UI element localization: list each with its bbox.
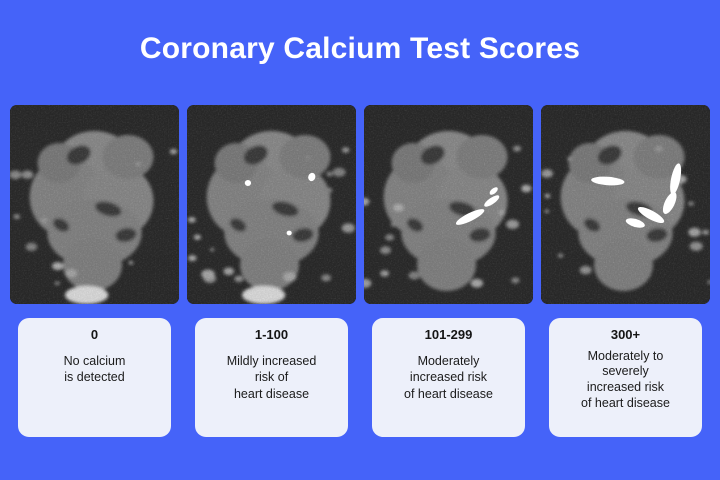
score-description: No calcium is detected	[64, 353, 126, 386]
score-range-label: 1-100	[255, 327, 288, 343]
score-description: Moderately increased risk of heart disea…	[404, 353, 493, 403]
score-range-label: 300+	[611, 327, 640, 343]
score-card-1: 0No calcium is detected	[18, 318, 171, 437]
score-card-3: 101-299Moderately increased risk of hear…	[372, 318, 525, 437]
score-description: Mildly increased risk of heart disease	[227, 353, 317, 403]
ct-scan-row	[10, 105, 710, 304]
ct-scan-image-4	[541, 105, 710, 304]
infographic-root: Coronary Calcium Test Scores 0No calcium…	[0, 0, 720, 480]
ct-scan-image-2	[187, 105, 356, 304]
page-title: Coronary Calcium Test Scores	[0, 34, 720, 64]
ct-scan-image-1	[10, 105, 179, 304]
score-card-2: 1-100Mildly increased risk of heart dise…	[195, 318, 348, 437]
score-card-4: 300+Moderately to severely increased ris…	[549, 318, 702, 437]
score-range-label: 0	[91, 327, 98, 343]
score-range-label: 101-299	[425, 327, 473, 343]
score-description: Moderately to severely increased risk of…	[581, 349, 670, 412]
ct-scan-image-3	[364, 105, 533, 304]
score-card-row: 0No calcium is detected1-100Mildly incre…	[18, 318, 702, 437]
